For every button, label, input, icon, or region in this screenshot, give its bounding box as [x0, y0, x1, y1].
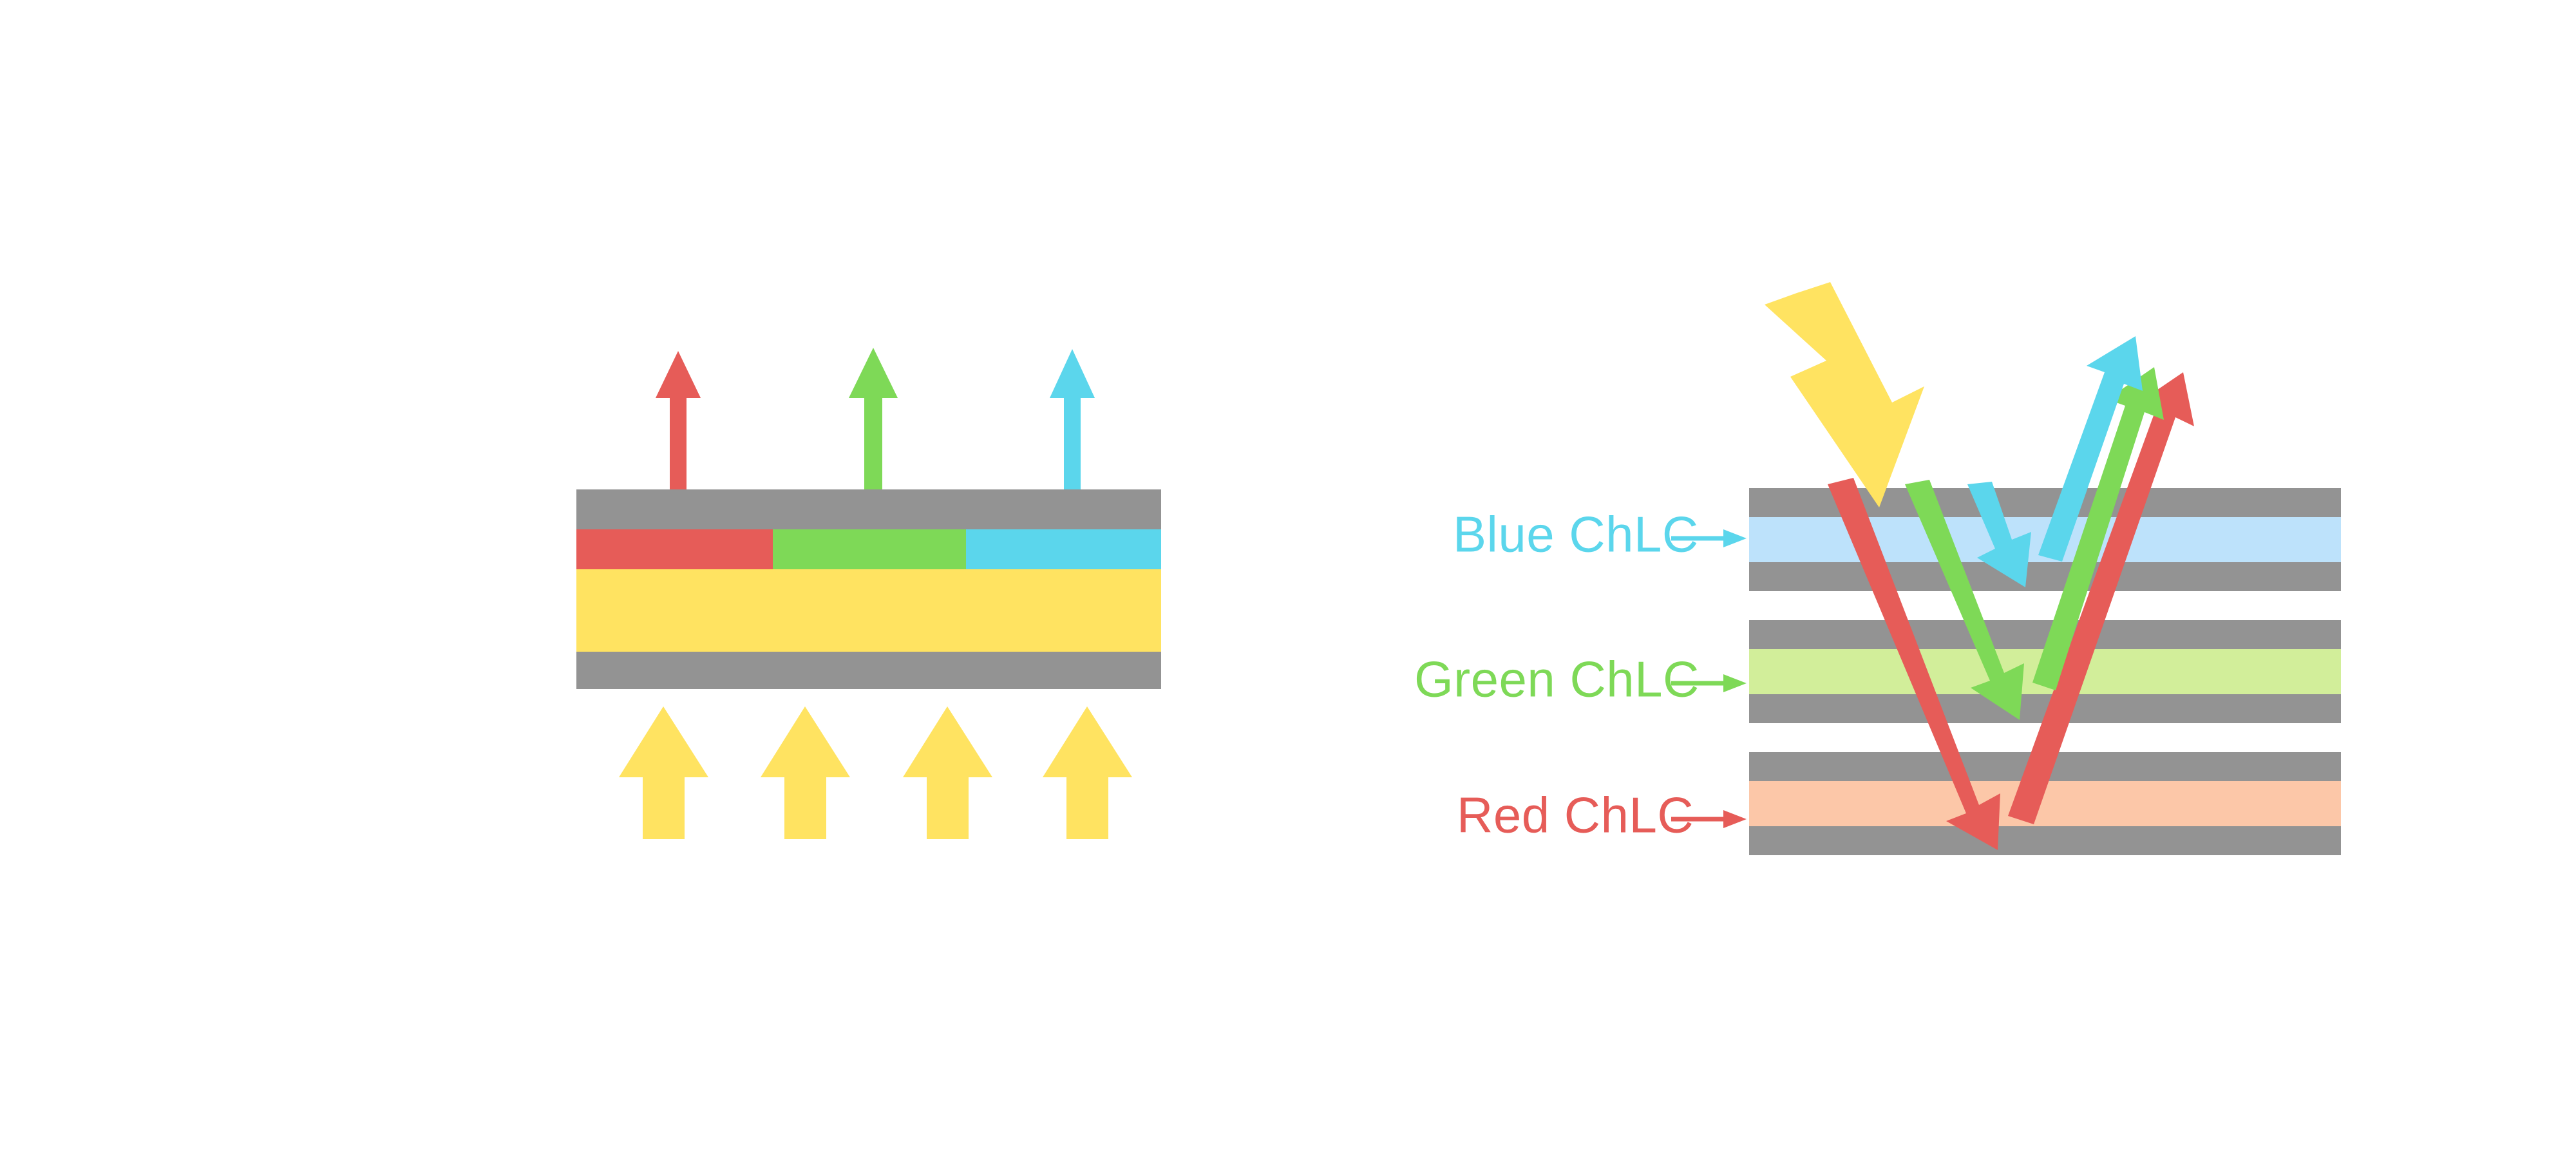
right-panel: Blue ChLC Green ChLC Red ChLC	[1414, 282, 2341, 855]
left-stack-layers	[576, 489, 1161, 689]
backlight-arrow-2	[761, 706, 850, 839]
green-chlc-label: Green ChLC	[1414, 651, 1700, 708]
blue-chlc-label: Blue ChLC	[1453, 506, 1699, 563]
green-chlc-label-group: Green ChLC	[1414, 651, 1747, 708]
backlight-arrow-1	[619, 706, 708, 839]
blue-cell-bottom-substrate	[1749, 562, 2341, 591]
emitted-arrows-group	[656, 348, 1095, 491]
diagram-canvas: Blue ChLC Green ChLC Red ChLC	[0, 0, 2576, 1154]
green-emitted-arrow	[849, 348, 898, 491]
right-panel-labels: Blue ChLC Green ChLC Red ChLC	[1414, 506, 1747, 844]
left-red-segment	[576, 529, 773, 569]
left-panel	[576, 348, 1161, 839]
backlight-arrows-group	[619, 706, 1132, 839]
backlight-arrow-3	[903, 706, 992, 839]
ambient-light-arrow	[1765, 282, 1924, 507]
red-emitted-arrow	[656, 351, 701, 489]
left-bottom-electrode	[576, 652, 1161, 689]
blue-chlc-label-group: Blue ChLC	[1453, 506, 1747, 563]
left-top-electrode	[576, 489, 1161, 529]
left-green-segment	[773, 529, 966, 569]
green-cell-top-substrate	[1749, 620, 2341, 649]
backlight-arrow-4	[1043, 706, 1132, 839]
left-cyan-segment	[966, 529, 1161, 569]
cyan-emitted-arrow	[1050, 349, 1095, 491]
figure-root: Blue ChLC Green ChLC Red ChLC	[0, 0, 2576, 1154]
red-chlc-label-group: Red ChLC	[1457, 787, 1747, 844]
left-yellow-backlight-layer	[576, 569, 1161, 652]
red-cell-bottom-substrate	[1749, 826, 2341, 855]
red-chlc-label: Red ChLC	[1457, 787, 1694, 844]
